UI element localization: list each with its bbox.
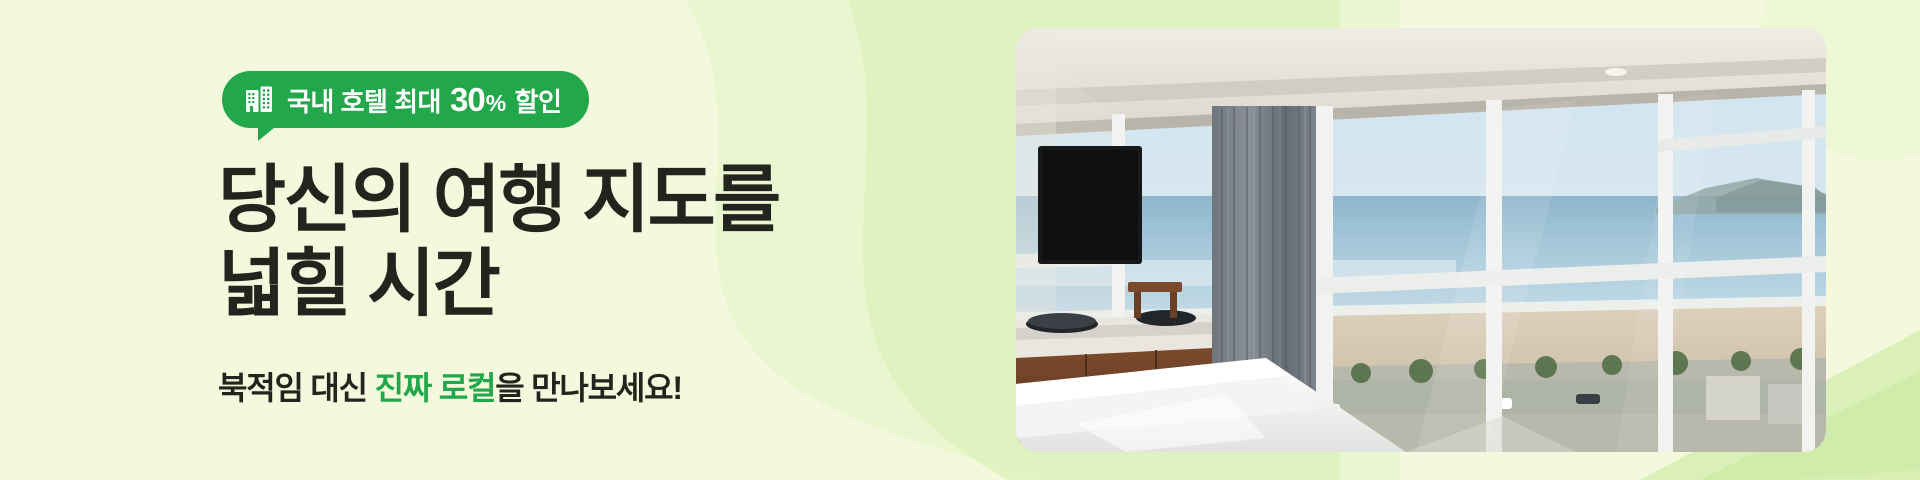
subtitle-highlight: 진짜 로컬 <box>375 370 496 406</box>
subtitle-after: 을 만나보세요! <box>495 370 682 406</box>
headline-line-2: 넓힐 시간 <box>218 242 779 326</box>
promo-banner[interactable]: 국내 호텔 최대 30 % 할인 당신의 여행 지도를 넓힐 시간 북적임 대신… <box>0 0 1920 480</box>
page-title: 당신의 여행 지도를 넓힐 시간 <box>218 158 779 325</box>
discount-badge-text: 국내 호텔 최대 30 % 할인 <box>287 83 561 116</box>
oceanview-hotel-room-photo[interactable] <box>1016 28 1826 452</box>
subtitle: 북적임 대신 진짜 로컬을 만나보세요! <box>218 363 682 409</box>
badge-discount-number: 30 <box>450 83 485 116</box>
discount-badge-wrapper: 국내 호텔 최대 30 % 할인 <box>222 71 589 128</box>
banner-content: 국내 호텔 최대 30 % 할인 당신의 여행 지도를 넓힐 시간 북적임 대신… <box>218 0 978 480</box>
badge-percent-symbol: % <box>486 92 506 115</box>
discount-badge[interactable]: 국내 호텔 최대 30 % 할인 <box>222 71 589 128</box>
subtitle-before: 북적임 대신 <box>218 370 375 406</box>
hotel-building-icon <box>244 84 274 114</box>
hotel-room-illustration <box>1016 28 1826 452</box>
headline-line-1: 당신의 여행 지도를 <box>218 158 779 241</box>
badge-lead-text: 국내 호텔 최대 <box>287 89 441 115</box>
badge-speech-tail <box>258 123 280 141</box>
badge-trailing-text: 할인 <box>515 89 562 115</box>
